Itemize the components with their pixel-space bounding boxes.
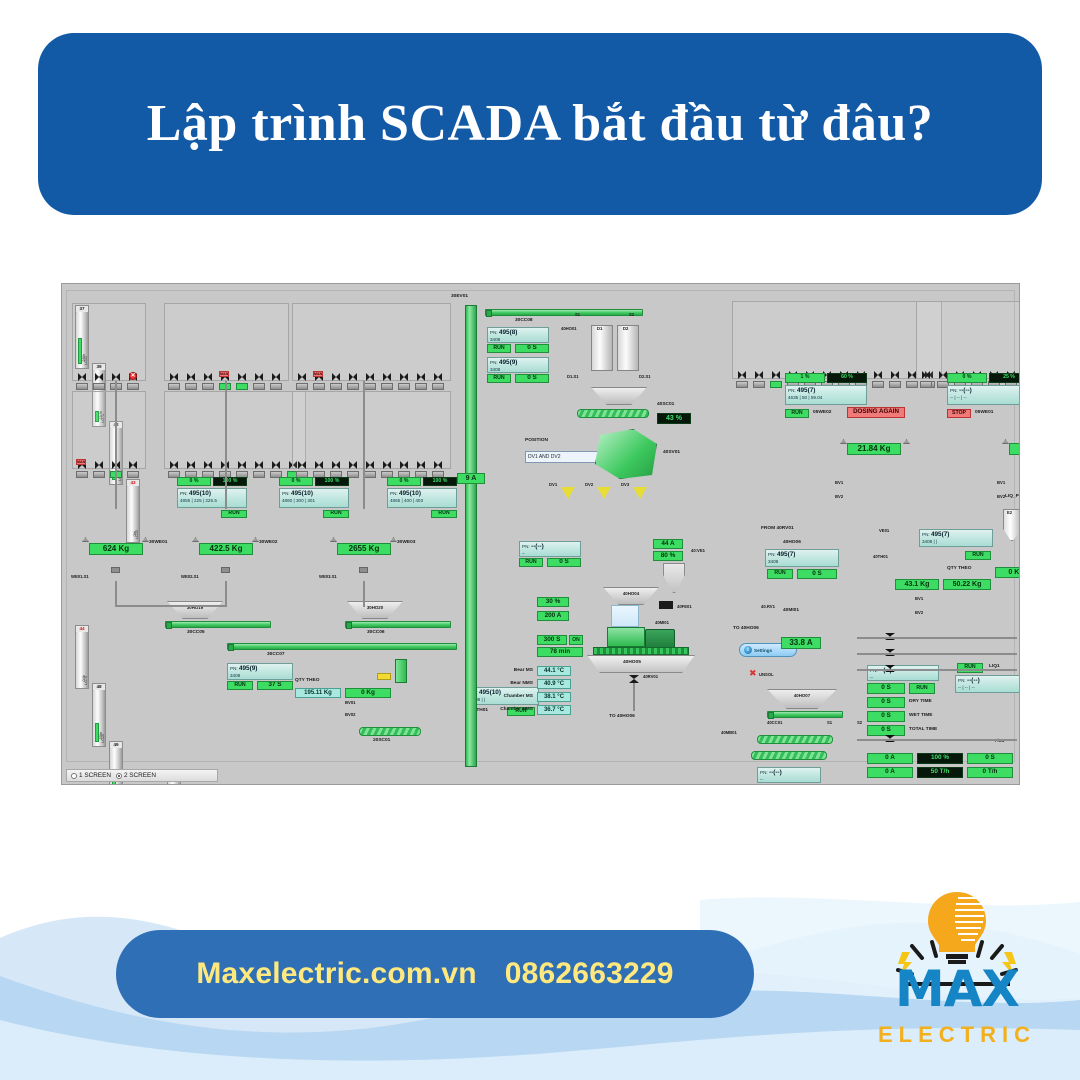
mb01-label: 40MB01 [721,731,737,735]
mill-minutes: 78 min [537,647,583,657]
d1s1-label: D1.S1 [567,375,579,379]
conveyor-30CC05[interactable] [165,621,271,628]
qty-act-right: 43.1 Kg [895,579,939,590]
silo-feeder-110[interactable] [906,381,918,388]
dosing-silo-D2[interactable] [617,325,639,371]
silo-alarm-badge-44: MAN [76,459,86,465]
elevator-label: 30EV01 [451,295,468,300]
silo-feeder-67[interactable] [364,471,376,478]
qty-theo-right: 50.22 Kg [943,579,991,590]
timer-value-3: 0 S [867,725,905,736]
position-label: POSITION [525,439,548,444]
pn-detail: 4635 | 50 | 59.04 [788,395,864,401]
load-cell-right-we03 [390,537,397,542]
r-pct-low-we02: 1 % [785,373,825,383]
center-pn-box-3: PN: --(--)-- [519,541,581,557]
th01-right-label: 40TH01 [873,555,888,559]
conveyor-label-2: 30CC06 [367,631,385,636]
pn-line: PN: 495(7) [768,551,836,559]
bottom-row1-0: 0 A [867,753,913,764]
weigh-outlet-valve-we03[interactable] [359,567,368,573]
pn-line: PN: 495(10) [390,490,454,498]
max-electric-logo: MAX ELECTRIC [862,890,1052,1062]
drop-pipe-we01 [115,381,117,509]
to-40ho06-label: TO 40HO06 [733,627,759,632]
silo-alarm-badge-60: MAN [219,371,229,377]
temp-label-2: Chamber MS [475,695,533,700]
timer-label-2: WET TIME [909,714,932,719]
drop-pipe-we03 [363,381,365,509]
weigh-value-we01: 624 Kg [89,543,143,555]
header-banner: Lập trình SCADA bắt đầu từ đâu? [38,33,1042,215]
bottom-row2-2: 0 T/h [967,767,1013,778]
collect-hopper-1: 30HO19 [167,601,223,619]
load-cell-right-we01 [142,537,149,542]
load-cell-left-we03 [330,537,337,542]
radio-icon-screen1[interactable] [71,773,77,779]
mill-inlet-cone: 40HO04 [603,587,659,605]
pn-detail: -- [870,675,936,681]
weigh-pct-low-we02: 0 % [279,477,313,486]
screen-option-1[interactable]: 1 SCREEN [71,772,111,779]
mill-rv-label: 40RV01 [643,675,658,679]
liq-weight: 0 Kg [995,567,1020,578]
r-lc-r-we02 [903,439,910,444]
silo-bank-a-bottom-48[interactable]: 4825%LG20 [92,689,106,747]
mixer-amps: 33.8 A [781,637,821,649]
mill-rv-pipe [633,683,635,711]
r-tag-we02: 05WE02 [813,411,831,416]
page-title: Lập trình SCADA bắt đầu từ đâu? [111,91,970,158]
radio-icon-screen2[interactable] [116,773,122,779]
r-bv2-th: BV2 [915,611,923,615]
conveyor-40CC01[interactable] [767,711,843,718]
ve1-label: 40:VE1 [691,549,705,553]
pn-detail: 3408 [490,367,546,373]
center-time-2: 0 S [515,374,549,383]
mill-rv-valve[interactable] [629,675,639,683]
pn-detail: 4855 | 225 | 225.5 [180,498,244,504]
silo-feeder-51[interactable] [398,383,410,390]
silo-feeder-112[interactable] [872,381,884,388]
mill-fe-label: 40FE01 [677,605,692,609]
collect-hopper-2: 30HO20 [347,601,403,619]
ho06-run[interactable]: RUN [767,569,793,579]
unsol-label: UNSOL [759,673,774,677]
weigh-pn-box-we02: PN: 495(10)4860 | 300 | 301 [279,488,349,508]
d2s1-label: D2.S1 [639,375,651,379]
mill-screen [593,647,689,655]
silo-feeder-54[interactable] [168,383,180,390]
silo-bank-bank-c-top [292,303,451,381]
unsol-x-icon: ✖ [749,669,758,678]
silo-feeder-111[interactable] [889,381,901,388]
phone-text: 0862663229 [505,957,674,991]
r-lc-l-we02 [840,439,847,444]
conveyor-30CC07[interactable] [227,643,457,650]
from-rv-label: FROM 40RV01 [761,527,794,532]
silo-feeder-40[interactable] [313,383,325,390]
r-weight-we01: 10.04 Kg [1009,443,1020,455]
silo-feeder-37[interactable] [76,383,88,390]
mill-housing-40HO05 [587,655,695,673]
mill-amps: 200 A [537,611,569,621]
center-screw[interactable] [577,409,649,418]
elevator-current: 9 A [457,473,485,484]
mill-time: 300 S [537,635,567,645]
left-run-button[interactable]: RUN [227,681,253,690]
silo-feeder-55[interactable] [185,383,197,390]
weigh-scale-tag-we02: 30WE02 [259,541,277,546]
conveyor-label-3: 30CC07 [267,653,285,658]
pn-line: PN: 495(10) [282,490,346,498]
pn-detail: -- | -- | -- [950,395,1020,401]
silo-number-43: 43 [126,479,140,486]
r-lc-l-we01 [1002,439,1009,444]
bv02-label-left: BV02 [345,713,355,717]
ho06-pn-box: PN: 495(7)3408 [765,549,839,567]
cc01-s2: S2 [857,721,862,725]
conveyor-30CC06[interactable] [345,621,451,628]
timer-pn-box: PN: --(--)-- [867,665,939,681]
footer: Maxelectric.com.vn 0862663229 MAX ELEC [0,880,1080,1080]
pn-line: PN: 495(9) [490,359,546,367]
silo-feeder-53[interactable] [432,383,444,390]
liq-ez-label: E2 [1007,511,1012,515]
pn-detail: -- [760,777,818,783]
center-s2-label: S2 [629,313,634,317]
silo-feeder-41[interactable] [330,383,342,390]
silo-feeder-120[interactable] [736,381,748,388]
scada-screenshot: 3728%LG413913 %LG714210%LG77430%LG14✕440… [61,283,1020,785]
silo-bank-bank-e [916,301,1020,379]
pn-detail: 3408 | | [922,539,990,545]
weigh-pn-box-we01: PN: 495(10)4855 | 225 | 225.5 [177,488,247,508]
silo-feeder-118[interactable] [770,381,782,388]
silo-feeder-72[interactable] [253,471,265,478]
silo-bank-bank-d [732,301,942,379]
r-weight-we02: 21.84 Kg [847,443,901,455]
cc01-label: 40CC01 [767,721,782,725]
silo-tag: LG70 [84,676,88,685]
silo-bank-a-bottom-44[interactable]: 440 %LG70 [75,631,89,689]
timer-run-button[interactable]: RUN [909,683,935,694]
temp-value-3: 36.7 °C [537,705,571,715]
pipe-we-join [115,605,227,607]
weigh-pct-high-we03: 100 % [423,477,457,486]
cyclone-40ve1 [663,563,685,593]
weigh-run-we01[interactable]: RUN [221,510,247,518]
pn-line: PN: --(--) [760,769,818,777]
mill-mi-label: 40MI01 [655,621,669,625]
silo-feeder-62[interactable] [253,383,265,390]
silo-number-44: 44 [75,625,89,632]
mill-to-label: TO 40HO06 [609,715,635,720]
center-pn-box-2: PN: 495(9)3408 [487,357,549,373]
dosing-silo-D1[interactable] [591,325,613,371]
center-time-3: 0 S [547,558,581,567]
temp-label-1: Bear NMS [475,682,533,687]
timer-value-2: 0 S [867,711,905,722]
settings-label: Settings [754,648,772,653]
r-pct-high-we01: 25 % [989,373,1020,383]
temp-label-3: Chamber NMS [475,708,533,713]
center-pn-box-1: PN: 495(8)3408 [487,327,549,343]
silo-tag: LG14 [135,530,139,539]
silo-feeder-47[interactable] [381,383,393,390]
mill-motor[interactable] [645,629,675,649]
scada-inner-panel: 3728%LG413913 %LG714210%LG77430%LG14✕440… [66,290,1015,762]
weigh-pct-high-we01: 100 % [213,477,247,486]
screw-mb01-b[interactable] [751,751,827,760]
load-cell-left-we02 [192,537,199,542]
silo-feeder-44[interactable] [76,471,88,478]
screw-20SC01[interactable] [359,727,421,736]
mill-on-badge: ON [569,635,583,645]
r-stop-we01[interactable]: STOP [947,409,971,418]
r-bv1-we01: BV1 [997,481,1005,485]
silo-feeder-39[interactable] [296,383,308,390]
qty-act-value-left: 0 Kg [345,688,391,698]
r-bv2-we01: BV2 [997,495,1005,499]
logo-electric-text: ELECTRIC [862,1022,1052,1048]
timer-value-1: 0 S [867,697,905,708]
conveyor-30CC08[interactable] [485,309,643,316]
dosing-chute [395,659,407,683]
ho06-tag-label: 40HO06 [783,541,801,546]
load-cell-right-we02 [252,537,259,542]
silo-number-49: 49 [109,741,123,748]
weigh-pn-box-we03: PN: 495(10)4865 | 400 | 403 [387,488,457,508]
mill-head-40MI01[interactable] [607,627,645,647]
r-bv2-we02: BV2 [835,495,843,499]
pn-line: PN: --(--) [950,387,1020,395]
pn-line: PN: 495(7) [788,387,864,395]
info-icon: i [744,646,752,654]
mill-fe-icon [659,601,673,609]
pn-line: PN: 495(7) [922,531,990,539]
silo-number-48: 48 [92,683,106,690]
timer-value-0: 0 S [867,683,905,694]
left-pn-box: PN: 495(9)3408 [227,663,293,680]
position-value: DV1 AND DV2 [528,454,561,460]
temp-label-0: Bear MS [475,669,533,674]
divider-valve-DV1[interactable] [561,487,575,499]
bus-line-2 [857,669,1017,671]
sampler-icon [377,673,391,680]
weigh-valve-tag-we03: WE03.S1 [319,575,337,579]
pipe-we01-down [115,581,117,607]
weigh-valve-tag-we01: WE01.S1 [71,575,89,579]
weigh-scale-tag-we01: 30WE01 [149,541,167,546]
screw-mb01-a[interactable] [757,735,833,744]
silo-bank-bank-b-bottom [164,391,306,469]
silo-feeder-50[interactable] [127,471,139,478]
sc-value: 43 % [657,413,691,424]
screen-option-1-label: 1 SCREEN [79,772,111,779]
liq-p-label: LIQ_P [1005,495,1019,500]
drop-pipe-we02 [225,381,227,509]
r-run-we02[interactable]: RUN [785,409,809,418]
weigh-pct-low-we01: 0 % [177,477,211,486]
silo-feeder-119[interactable] [753,381,765,388]
bv01-label-left: BV01 [345,701,355,705]
r-alarm-we02: DOSING AGAIN [847,407,905,418]
contact-pill[interactable]: Maxelectric.com.vn 0862663229 [116,930,754,1018]
pn-detail: 4865 | 400 | 403 [390,498,454,504]
weigh-pct-high-we02: 100 % [315,477,349,486]
timer-label-3: TOTAL TIME [909,728,937,733]
sc-tag-label: 40SC01 [657,403,674,408]
silo-alarm-badge-40: MAN [313,371,323,377]
pn-detail: 4860 | 300 | 301 [282,498,346,504]
bottom-pn-box: PN: --(--)-- [757,767,821,783]
th-run[interactable]: RUN [965,551,991,560]
silo-bank-bank-a-bottom [72,391,146,469]
th-pn-box: PN: 495(7)3408 | | [919,529,993,547]
silo-bank-a-top-43[interactable]: 430%LG14 [126,485,140,543]
r-bv1-we02: BV1 [835,481,843,485]
silo-feeder-43[interactable] [127,383,139,390]
pn-line: PN: --(--) [522,543,578,551]
pn-line: PN: 495(10) [180,490,244,498]
liq1-run[interactable]: RUN [957,663,983,673]
weigh-outlet-valve-we01[interactable] [111,567,120,573]
silo-number-37: 37 [75,305,89,312]
r-pct-high-we02: 60 % [827,373,867,383]
silo-bank-bank-c-bottom [292,391,451,469]
pn-detail: 3408 [490,337,546,343]
silo-feeder-39[interactable] [93,383,105,390]
rv1-label: 40.RV1 [761,605,775,609]
mixer-tag-label: 40MI01 [783,609,799,614]
pn-detail: -- | -- | -- [958,685,1018,691]
qty-theo-value-left: 195.11 Kg [295,688,341,698]
liq1-pn-box: PN: --(--)-- | -- | -- [955,675,1020,693]
load-cell-left-we01 [82,537,89,542]
ho07-cone: 40HO07 [767,689,837,709]
qty-theo-label-left: QTY THEO [295,679,319,684]
silo-number-39: 39 [92,363,106,370]
center-pct: 80 % [653,551,683,561]
cc01-s1: S1 [827,721,832,725]
diverter-40SV01[interactable] [595,429,657,479]
center-run-1[interactable]: RUN [487,344,511,353]
sv-tag-label: 40SV01 [663,451,680,456]
website-text: Maxelectric.com.vn [196,957,476,991]
weigh-run-we03[interactable]: RUN [431,510,457,518]
bus-line-0 [857,637,1017,639]
divider-label-DV2: DV2 [585,483,593,487]
bottom-row1-1: 100 % [917,753,963,764]
conveyor-label-1: 30CC05 [187,631,205,636]
r-pct-low-we01: 0 % [947,373,987,383]
r-pn-box-we02: PN: 495(7)4635 | 50 | 59.04 [785,385,867,405]
ve01-label: VE01 [879,529,889,533]
center-hopper-label: 40HO01 [561,327,577,331]
weigh-value-we03: 2655 Kg [337,543,391,555]
weigh-outlet-valve-we02[interactable] [221,567,230,573]
center-cone [591,387,647,405]
center-run-3[interactable]: RUN [519,558,543,567]
pipe-we02-down [225,581,227,607]
silo-bank-bank-b-top [164,303,289,381]
pipe-we03-down [363,581,365,607]
center-s1-label: S1 [575,313,580,317]
ho06-time: 0 S [797,569,837,579]
conveyor-top-label: 30CC08 [515,319,533,324]
center-run-2[interactable]: RUN [487,374,511,383]
mill-feed-window [611,605,639,627]
mill-ho-label: 40HO05 [623,661,641,666]
silo-feeder-46[interactable] [364,383,376,390]
center-time-1: 0 S [515,344,549,353]
bottom-row2-0: 0 A [867,767,913,778]
center-current: 44 A [653,539,683,549]
dosing-silo-label-D1: D1 [597,327,602,331]
qty-theo-label-right: QTY THEO [947,567,971,572]
divider-label-DV1: DV1 [549,483,557,487]
divider-valve-DV3[interactable] [633,487,647,499]
silo-tag: LG41 [84,356,88,365]
screen-selector-bar[interactable]: 1 SCREEN 2 SCREEN [66,769,218,782]
r-pn-box-we01: PN: --(--)-- | -- | -- [947,385,1020,405]
silo-fault-icon-43[interactable]: ✕ [129,372,137,380]
silo-feeder-52[interactable] [415,383,427,390]
temp-value-1: 40.9 °C [537,679,571,689]
bottom-row2-1: 50 T/h [917,767,963,778]
silo-bank-a-top-37[interactable]: 3728%LG41 [75,311,89,369]
divider-label-DV3: DV3 [621,483,629,487]
silo-feeder-63[interactable] [270,383,282,390]
screw-label: 20SC01 [373,739,390,744]
weigh-run-we02[interactable]: RUN [323,510,349,518]
position-select[interactable]: DV1 AND DV2▼ [525,451,605,463]
temp-value-2: 38.1 °C [537,692,571,702]
logo-max-text: MAX [862,960,1052,1018]
scada-canvas: 3728%LG413913 %LG714210%LG77430%LG14✕440… [62,284,1019,784]
r-tag-we01: 05WE01 [975,411,993,416]
pn-line: PN: 495(8) [490,329,546,337]
silo-feeder-48[interactable] [93,471,105,478]
bottom-row1-2: 0 S [967,753,1013,764]
divider-valve-DV2[interactable] [597,487,611,499]
pn-detail: 3408 [768,559,836,565]
pn-detail: 3408 [230,673,290,679]
weigh-value-we02: 422.5 Kg [199,543,253,555]
mill-pct: 30 % [537,597,569,607]
screen-option-2-label: 2 SCREEN [124,772,156,779]
silo-feeder-61[interactable] [236,383,248,390]
r-bv1-th: BV1 [915,597,923,601]
silo-tag: LG20 [101,734,105,743]
screen-option-2[interactable]: 2 SCREEN [116,772,156,779]
weigh-valve-tag-we02: WE02.S1 [181,575,199,579]
pn-line: PN: --(--) [958,677,1018,685]
silo-feeder-56[interactable] [202,383,214,390]
pn-detail: -- [522,551,578,557]
bus-line-3 [857,739,1017,741]
dosing-silo-label-D2: D2 [623,327,628,331]
left-time-value: 37 S [257,681,293,690]
weigh-pct-low-we03: 0 % [387,477,421,486]
silo-feeder-108[interactable] [920,381,932,388]
silo-feeder-45[interactable] [347,383,359,390]
weigh-scale-tag-we03: 30WE03 [397,541,415,546]
timer-label-1: DRY TIME [909,700,932,705]
pn-line: PN: 495(9) [230,665,290,673]
bus-line-1 [857,653,1017,655]
